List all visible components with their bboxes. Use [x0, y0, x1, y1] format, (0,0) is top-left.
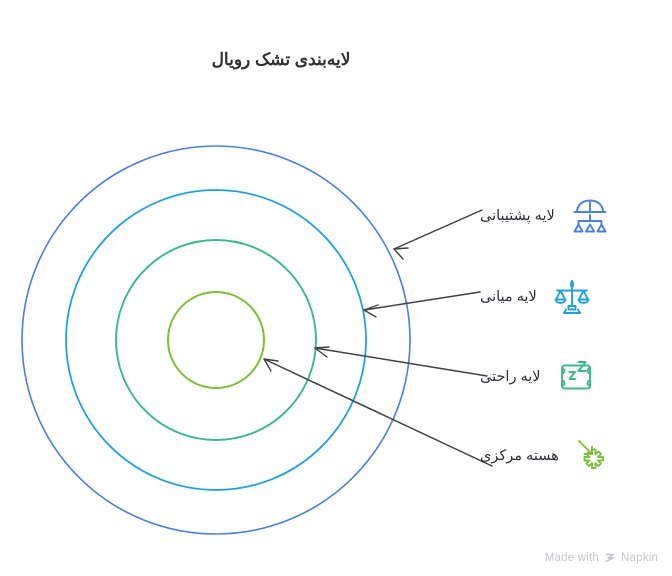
connector-second — [364, 292, 480, 317]
legend-label-core: هسته مرکزی — [480, 448, 559, 464]
napkin-watermark: Made with Napkin — [545, 552, 658, 564]
watermark-prefix: Made with — [545, 552, 599, 564]
legend-label-support-layer: لایه پشتیبانی — [480, 208, 555, 224]
connector-outer — [394, 210, 482, 259]
balance-scale-icon — [549, 274, 595, 320]
diagram-canvas: لایه‌بندی تشک رویال — [0, 0, 672, 576]
legend-item-comfort-layer[interactable]: لایه راحتی — [480, 349, 665, 405]
connector-inner — [264, 359, 492, 466]
arrow-asterisk-core-icon — [571, 433, 617, 479]
pillow-sleep-zz-icon — [553, 354, 599, 400]
inner-ring — [168, 292, 264, 388]
second-ring — [66, 190, 366, 490]
connector-group — [264, 210, 492, 466]
third-ring — [116, 240, 316, 440]
legend-item-core[interactable]: هسته مرکزی — [480, 428, 665, 484]
napkin-logo-icon — [604, 552, 616, 564]
ring-group — [22, 146, 410, 534]
legend-label-comfort-layer: لایه راحتی — [480, 369, 541, 385]
legend-item-middle-layer[interactable]: لایه میانی — [480, 269, 665, 325]
hard-hat-support-icon — [567, 193, 613, 239]
outer-ring — [22, 146, 410, 534]
connector-third — [315, 347, 487, 376]
legend-label-middle-layer: لایه میانی — [480, 289, 537, 305]
legend-item-support-layer[interactable]: لایه پشتیبانی — [480, 188, 665, 244]
watermark-brand: Napkin — [621, 552, 658, 564]
